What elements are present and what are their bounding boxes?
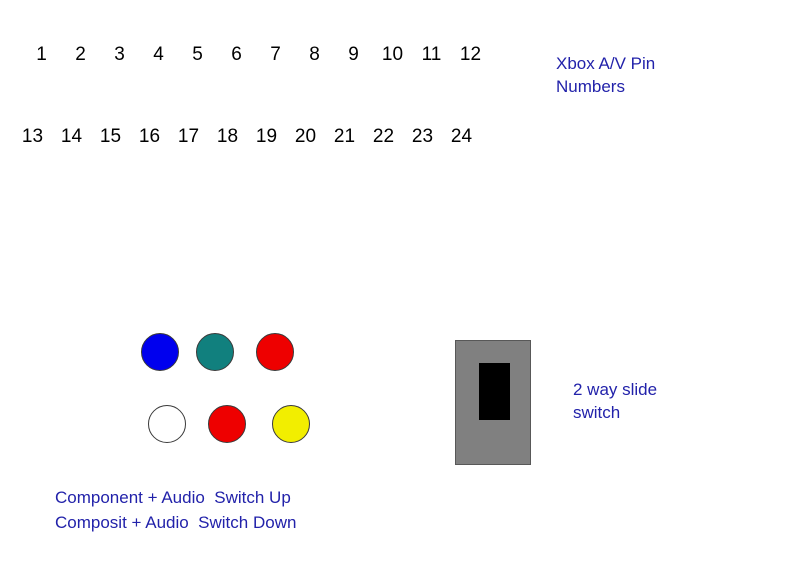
- pin-number: 24: [442, 126, 481, 148]
- pin-number: 23: [403, 126, 442, 148]
- white-circle: [148, 405, 186, 443]
- pin-number: 19: [247, 126, 286, 148]
- pin-number: 18: [208, 126, 247, 148]
- xbox-av-pin-numbers-label: Xbox A/V Pin Numbers: [556, 52, 655, 98]
- pin-number: 4: [139, 44, 178, 66]
- pin-number-row-top: 1 2 3 4 5 6 7 8 9 10 11 12: [22, 44, 490, 66]
- yellow-circle: [272, 405, 310, 443]
- pin-number: 10: [373, 44, 412, 66]
- pin-number: 21: [325, 126, 364, 148]
- pin-number: 14: [52, 126, 91, 148]
- slide-switch-label: 2 way slide switch: [573, 378, 657, 424]
- teal-circle: [196, 333, 234, 371]
- pin-number: 2: [61, 44, 100, 66]
- pin-number: 8: [295, 44, 334, 66]
- pin-number: 12: [451, 44, 490, 66]
- slide-switch-lever[interactable]: [479, 363, 510, 420]
- pin-number: 6: [217, 44, 256, 66]
- red-circle: [256, 333, 294, 371]
- diagram-canvas: 1 2 3 4 5 6 7 8 9 10 11 12 13 14 15 16 1…: [0, 0, 799, 572]
- pin-number: 9: [334, 44, 373, 66]
- switch-modes-label: Component + Audio Switch Up Composit + A…: [55, 485, 296, 535]
- pin-number: 13: [13, 126, 52, 148]
- slide-switch-body[interactable]: [455, 340, 531, 465]
- pin-number: 5: [178, 44, 217, 66]
- blue-circle: [141, 333, 179, 371]
- pin-number-row-bottom: 13 14 15 16 17 18 19 20 21 22 23 24: [13, 126, 481, 148]
- pin-number: 11: [412, 44, 451, 66]
- red-circle: [208, 405, 246, 443]
- pin-number: 17: [169, 126, 208, 148]
- pin-number: 1: [22, 44, 61, 66]
- pin-number: 15: [91, 126, 130, 148]
- pin-number: 22: [364, 126, 403, 148]
- pin-number: 20: [286, 126, 325, 148]
- pin-number: 16: [130, 126, 169, 148]
- pin-number: 7: [256, 44, 295, 66]
- pin-number: 3: [100, 44, 139, 66]
